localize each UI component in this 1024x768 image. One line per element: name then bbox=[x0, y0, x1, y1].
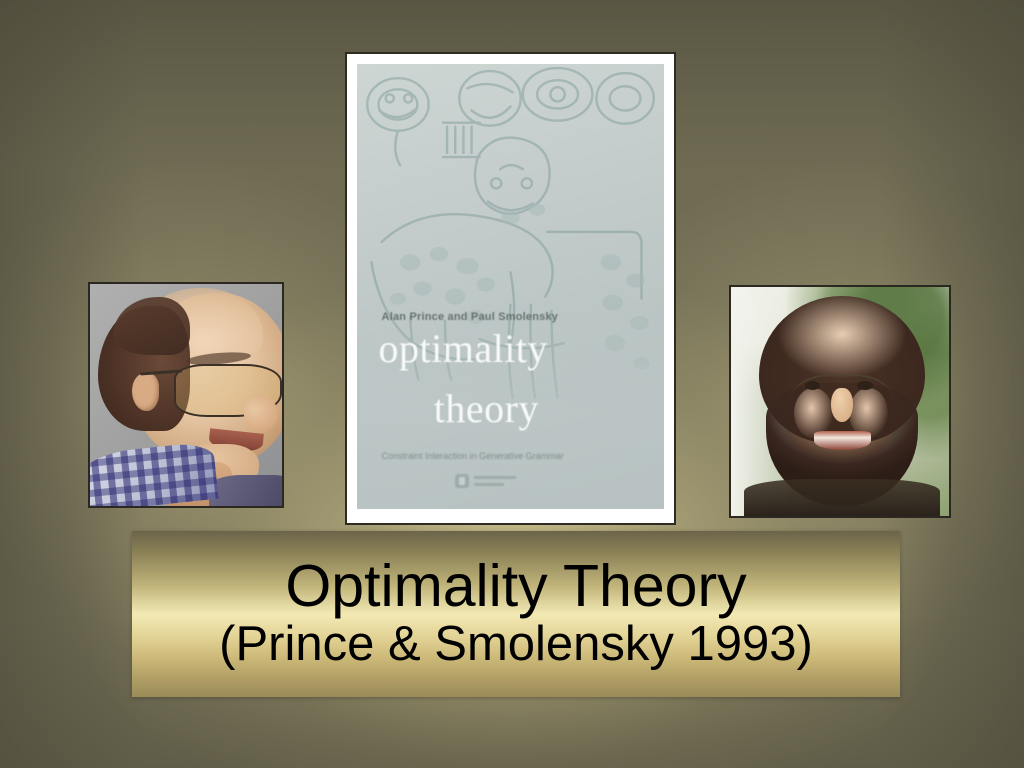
portrait-right-nose bbox=[831, 388, 853, 422]
portrait-left-ear bbox=[132, 373, 159, 411]
publisher-logo-mark bbox=[455, 474, 469, 488]
book-cover-authors: Alan Prince and Paul Smolensky bbox=[382, 311, 559, 323]
portrait-left-nose bbox=[244, 395, 279, 431]
book-cover-title-1: optimality bbox=[378, 329, 547, 369]
book-cover-title-2: theory bbox=[434, 389, 539, 429]
presentation-slide: Alan Prince and Paul Smolensky optimalit… bbox=[0, 0, 1024, 768]
publisher-logo-word2 bbox=[474, 483, 504, 486]
blackwell-publisher-logo-icon bbox=[455, 473, 559, 491]
book-cover-image: Alan Prince and Paul Smolensky optimalit… bbox=[345, 52, 676, 525]
book-cover-face: Alan Prince and Paul Smolensky optimalit… bbox=[357, 64, 664, 509]
slide-title-banner: Optimality Theory (Prince & Smolensky 19… bbox=[132, 531, 900, 697]
portrait-photo-right bbox=[729, 285, 951, 518]
portrait-right-smile bbox=[814, 431, 871, 449]
portrait-right-eye-right bbox=[857, 381, 872, 390]
page-title: Optimality Theory bbox=[285, 556, 746, 616]
portrait-right-shoulders bbox=[744, 479, 940, 516]
portrait-left-shoulder bbox=[209, 475, 284, 506]
publisher-logo-word1 bbox=[474, 476, 516, 479]
portrait-photo-left bbox=[88, 282, 284, 508]
page-title-citation: (Prince & Smolensky 1993) bbox=[219, 619, 813, 670]
book-cover-subtitle: Constraint Interaction in Generative Gra… bbox=[382, 451, 564, 461]
